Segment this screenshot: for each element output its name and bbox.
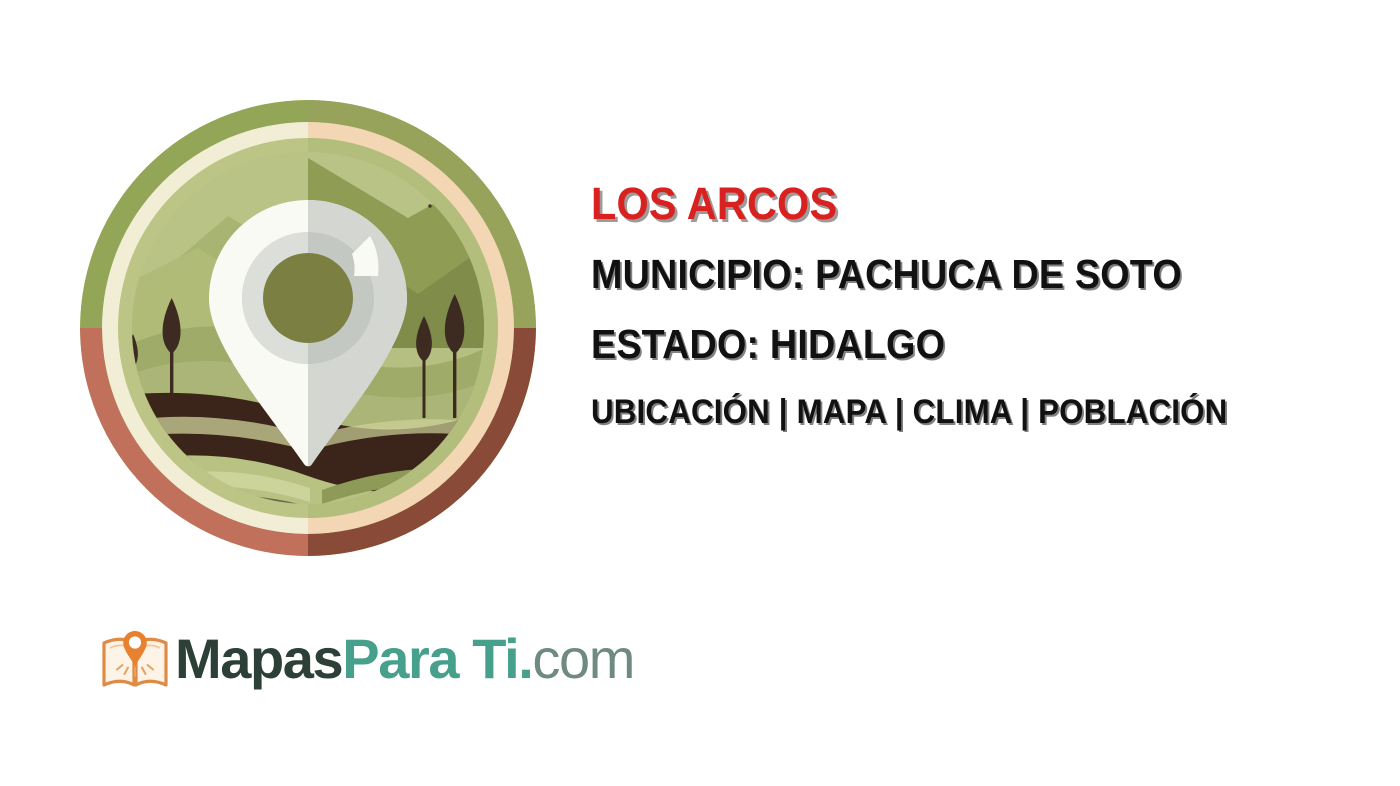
mapasparati-logo[interactable]: MapasPara Ti.com <box>99 618 634 700</box>
logo-word-com: com <box>532 627 634 690</box>
estado-label: ESTADO: HIDALGO <box>591 320 1327 368</box>
logo-word-mapas: Mapas <box>175 627 342 690</box>
page-root: LOS ARCOS MUNICIPIO: PACHUCA DE SOTO EST… <box>0 0 1400 786</box>
logo-wordmark: MapasPara Ti.com <box>175 631 634 687</box>
page-title: LOS ARCOS <box>591 178 1327 230</box>
section-links[interactable]: UBICACIÓN | MAPA | CLIMA | POBLACIÓN <box>591 392 1327 432</box>
open-book-with-map-pin-icon <box>99 623 171 695</box>
logo-word-parati: Para Ti. <box>342 627 532 690</box>
municipio-label: MUNICIPIO: PACHUCA DE SOTO <box>591 250 1327 298</box>
location-pin-landscape-emblem-icon <box>78 98 538 558</box>
location-info-block: LOS ARCOS MUNICIPIO: PACHUCA DE SOTO EST… <box>591 178 1391 432</box>
